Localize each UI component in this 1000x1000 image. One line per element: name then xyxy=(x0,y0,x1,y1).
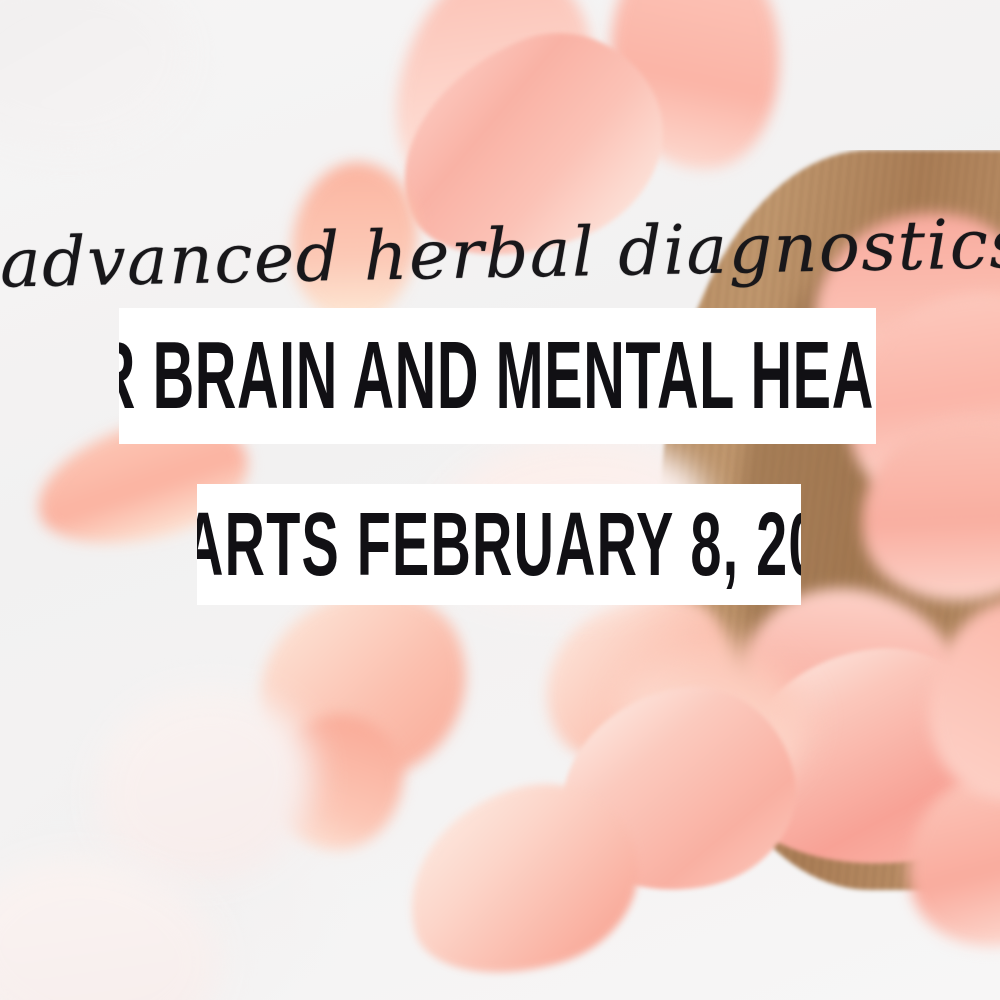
poster-canvas: advanced herbal diagnostics FOR BRAIN AN… xyxy=(0,0,1000,1000)
headline-band: FOR BRAIN AND MENTAL HEALTH xyxy=(119,308,876,444)
script-tagline: advanced herbal diagnostics xyxy=(0,195,1000,314)
date-text: STARTS FEBRUARY 8, 2021 xyxy=(197,500,801,590)
date-band: STARTS FEBRUARY 8, 2021 xyxy=(197,484,801,605)
headline-text: FOR BRAIN AND MENTAL HEALTH xyxy=(119,328,876,424)
petal-top-left-faint xyxy=(0,0,190,150)
